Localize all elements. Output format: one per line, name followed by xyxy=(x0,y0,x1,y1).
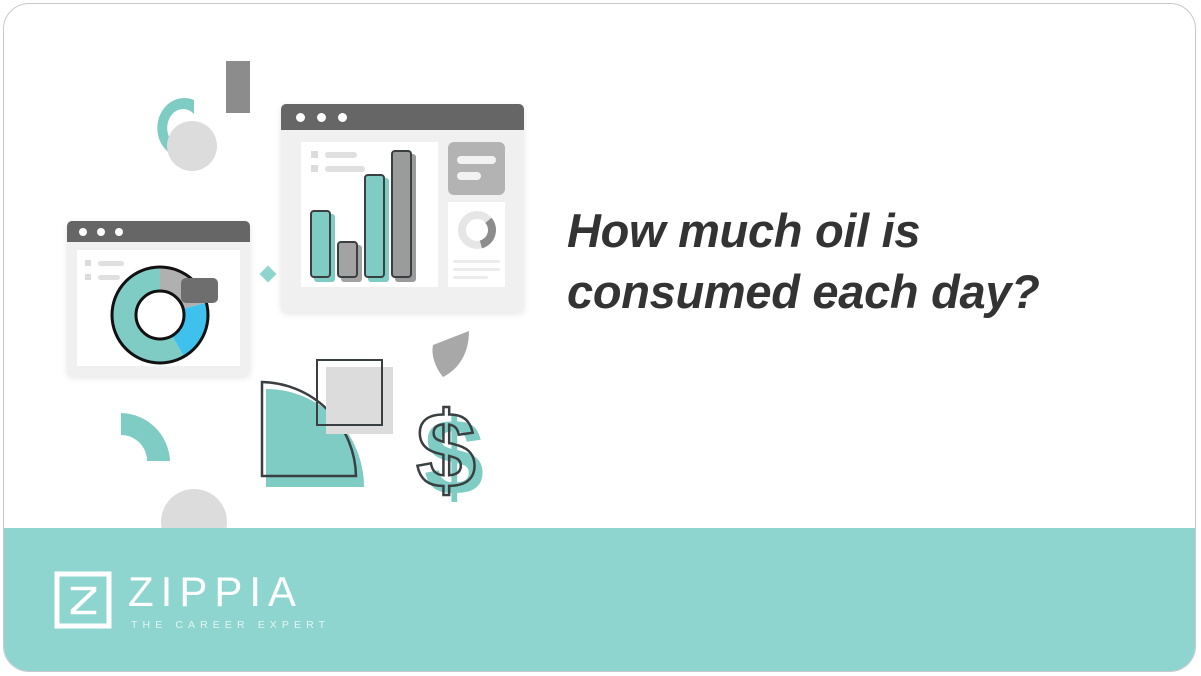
summary-card xyxy=(448,142,505,195)
window-dot-icon xyxy=(115,228,123,236)
gray-petal-shape xyxy=(429,331,471,377)
chart-panel xyxy=(301,142,438,287)
window-dot-icon xyxy=(296,113,305,122)
donut-chart-icon xyxy=(457,210,497,250)
brand-name: ZIPPIA xyxy=(128,571,330,613)
bar-chart-bar xyxy=(391,150,412,278)
brand-logo[interactable]: ZIPPIA THE CAREER EXPERT xyxy=(54,569,330,631)
panel-text-line xyxy=(453,276,488,279)
pie-browser-window[interactable] xyxy=(67,221,250,376)
brand-tagline: THE CAREER EXPERT xyxy=(131,620,330,631)
window-dot-icon xyxy=(338,113,347,122)
legend-swatch-icon xyxy=(311,151,318,158)
page-title: How much oil is consumed each day? xyxy=(567,200,1147,322)
legend-label-bar xyxy=(325,152,357,158)
teal-diamond-accent xyxy=(260,266,277,283)
z-monogram-icon xyxy=(54,571,112,629)
dashboard-browser-window[interactable] xyxy=(281,104,524,312)
legend-row xyxy=(311,165,365,172)
window-title-bar xyxy=(67,221,250,242)
bar-outline xyxy=(310,210,331,278)
summary-card-line xyxy=(457,172,481,180)
page-title-line-2: consumed each day? xyxy=(567,261,1147,322)
infographic-card: $ $ xyxy=(3,3,1196,672)
legend-row xyxy=(311,151,357,158)
legend-label-bar xyxy=(325,166,365,172)
window-title-bar xyxy=(281,104,524,130)
panel-text-line xyxy=(453,268,500,271)
brand-wordmark: ZIPPIA THE CAREER EXPERT xyxy=(128,571,330,631)
window-dot-icon xyxy=(317,113,326,122)
bar-chart-bar xyxy=(310,210,331,278)
summary-card-line xyxy=(457,156,496,164)
window-dot-icon xyxy=(79,228,87,236)
gray-circle-shape xyxy=(167,121,217,171)
bar-chart-bar xyxy=(364,174,385,278)
legend-swatch-icon xyxy=(85,260,91,266)
bar-outline xyxy=(337,241,358,278)
gray-square-outline-shape xyxy=(316,359,383,426)
window-content xyxy=(77,250,240,366)
donut-chart-icon xyxy=(103,258,211,366)
tooltip-box xyxy=(181,278,218,303)
teal-arc-shape xyxy=(117,413,170,465)
legend-swatch-icon xyxy=(311,165,318,172)
bar-chart-bar xyxy=(337,241,358,278)
bar-outline xyxy=(391,150,412,278)
window-dot-icon xyxy=(97,228,105,236)
page-title-line-1: How much oil is xyxy=(567,200,1147,261)
panel-text-line xyxy=(453,260,500,263)
legend-swatch-icon xyxy=(85,274,91,280)
donut-panel xyxy=(448,202,505,287)
gray-rectangle-shape xyxy=(226,61,250,113)
screenshot-canvas: $ $ xyxy=(0,0,1201,676)
bar-outline xyxy=(364,174,385,278)
dollar-sign-shape: $ xyxy=(416,396,476,504)
